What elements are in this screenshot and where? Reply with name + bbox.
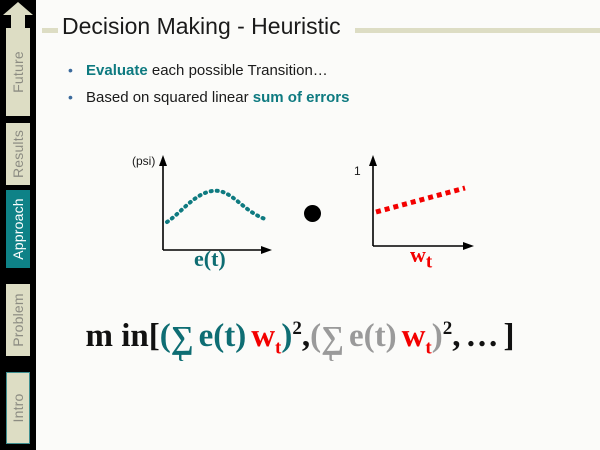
eq-sum-subscript: t — [178, 347, 184, 364]
eq-w-base-2: w — [402, 318, 426, 354]
right-chart-caption-base: w — [410, 242, 426, 267]
eq-open-paren-2: ( — [310, 318, 321, 354]
right-chart-y-label: 1 — [354, 164, 361, 178]
eq-w-term-2: wt — [402, 318, 432, 354]
eq-close-paren-2: ) — [432, 318, 443, 354]
bullet-text: Based on squared linear sum of errors — [86, 89, 349, 106]
eq-min: m in — [86, 318, 149, 354]
right-chart-caption-sub: t — [426, 251, 432, 272]
list-item: • Evaluate each possible Transition… — [68, 62, 538, 79]
title-rule-right — [355, 28, 600, 33]
sidebar-item-future[interactable]: Future — [6, 28, 30, 116]
up-arrow-icon — [2, 2, 34, 28]
slide-canvas: Future Results Approach Problem Intro De… — [0, 0, 600, 450]
left-chart-caption: e(t) — [194, 246, 226, 272]
title-rule-left — [42, 28, 58, 33]
bullet-list: • Evaluate each possible Transition… • B… — [68, 62, 538, 116]
figure-group: (psi) e(t) 1 — [120, 150, 520, 290]
eq-comma-1: , — [302, 318, 310, 354]
bullet-body: each possible Transition… — [148, 62, 328, 79]
eq-w-base-1: w — [251, 318, 275, 354]
eq-e-term-1: e(t) — [199, 318, 247, 354]
page-title: Decision Making - Heuristic — [62, 13, 341, 40]
bullet-highlight: Evaluate — [86, 62, 148, 79]
eq-close-paren-1: ) — [281, 318, 292, 354]
eq-close-bracket: ] — [503, 318, 514, 354]
left-chart-y-label: (psi) — [132, 154, 155, 168]
weight-signal-chart: 1 wt — [348, 150, 493, 255]
eq-sum-2: ∑t — [321, 321, 344, 355]
sidebar-item-label: Results — [10, 130, 26, 178]
bullet-body: Based on squared linear — [86, 89, 253, 106]
error-signal-chart: (psi) e(t) — [120, 150, 280, 255]
weight-signal-plot — [348, 150, 493, 255]
eq-ellipsis: … — [465, 318, 498, 354]
eq-open-bracket: [ — [149, 318, 160, 354]
bullet-highlight: sum of errors — [253, 89, 350, 106]
sidebar-item-intro[interactable]: Intro — [6, 372, 30, 444]
bullet-marker-icon: • — [68, 89, 86, 105]
eq-sum-subscript: t — [328, 347, 334, 364]
eq-sum-1: ∑t — [171, 321, 194, 355]
eq-open-paren-1: ( — [160, 318, 171, 354]
heuristic-equation: m in[(∑te(t)wt)2,(∑te(t)wt)2,…] — [0, 318, 600, 360]
eq-exponent-2: 2 — [443, 318, 453, 339]
eq-w-term-1: wt — [251, 318, 281, 354]
sidebar-item-label: Approach — [10, 198, 26, 260]
eq-comma-2: , — [452, 318, 460, 354]
sidebar-nav: Future Results Approach Problem Intro — [0, 0, 36, 450]
sidebar-item-approach[interactable]: Approach — [6, 190, 30, 268]
bullet-marker-icon: • — [68, 62, 86, 78]
title-row: Decision Making - Heuristic — [36, 16, 600, 46]
bullet-text: Evaluate each possible Transition… — [86, 62, 328, 79]
eq-e-term-2: e(t) — [349, 318, 397, 354]
sidebar-item-label: Intro — [10, 393, 26, 422]
eq-exponent-1: 2 — [292, 318, 302, 339]
sidebar-item-results[interactable]: Results — [6, 123, 30, 185]
right-chart-caption: wt — [410, 242, 432, 273]
sidebar-item-label: Future — [10, 51, 26, 93]
list-item: • Based on squared linear sum of errors — [68, 89, 538, 106]
multiply-dot-icon — [304, 205, 321, 222]
